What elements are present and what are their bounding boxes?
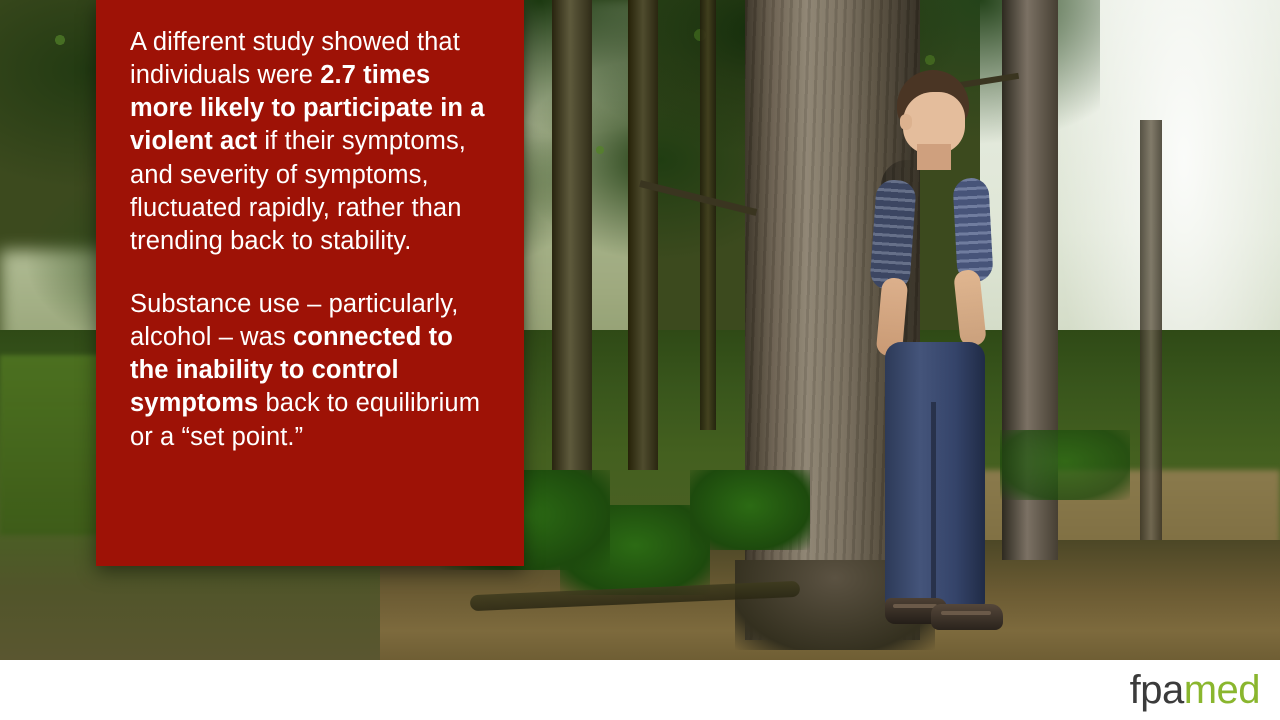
- footer-bar: fpamed: [0, 660, 1280, 720]
- shrub-3: [690, 470, 810, 550]
- tree-trunk-background-2: [628, 0, 658, 470]
- tree-trunk-background-3: [700, 0, 716, 430]
- sleeve-right: [952, 177, 993, 283]
- person-leaning-on-tree: [845, 70, 1035, 650]
- fpamed-logo: fpamed: [1130, 668, 1260, 713]
- tree-trunk-background-4: [1140, 120, 1162, 540]
- jeans: [885, 342, 985, 610]
- logo-text-accent: med: [1184, 668, 1260, 712]
- sandal-strap: [941, 611, 991, 615]
- sandal-right: [931, 604, 1003, 630]
- caption-paragraph-1: A different study showed that individual…: [130, 26, 496, 258]
- sandal-strap: [893, 604, 937, 608]
- caption-paragraph-2: Substance use – particularly, alcohol – …: [130, 288, 496, 454]
- sleeve-left: [869, 179, 917, 292]
- logo-text-primary: fpa: [1130, 668, 1184, 712]
- slide-stage: A different study showed that individual…: [0, 0, 1280, 720]
- caption-panel: A different study showed that individual…: [96, 0, 524, 566]
- tree-trunk-background-1: [552, 0, 592, 500]
- ear: [900, 114, 912, 130]
